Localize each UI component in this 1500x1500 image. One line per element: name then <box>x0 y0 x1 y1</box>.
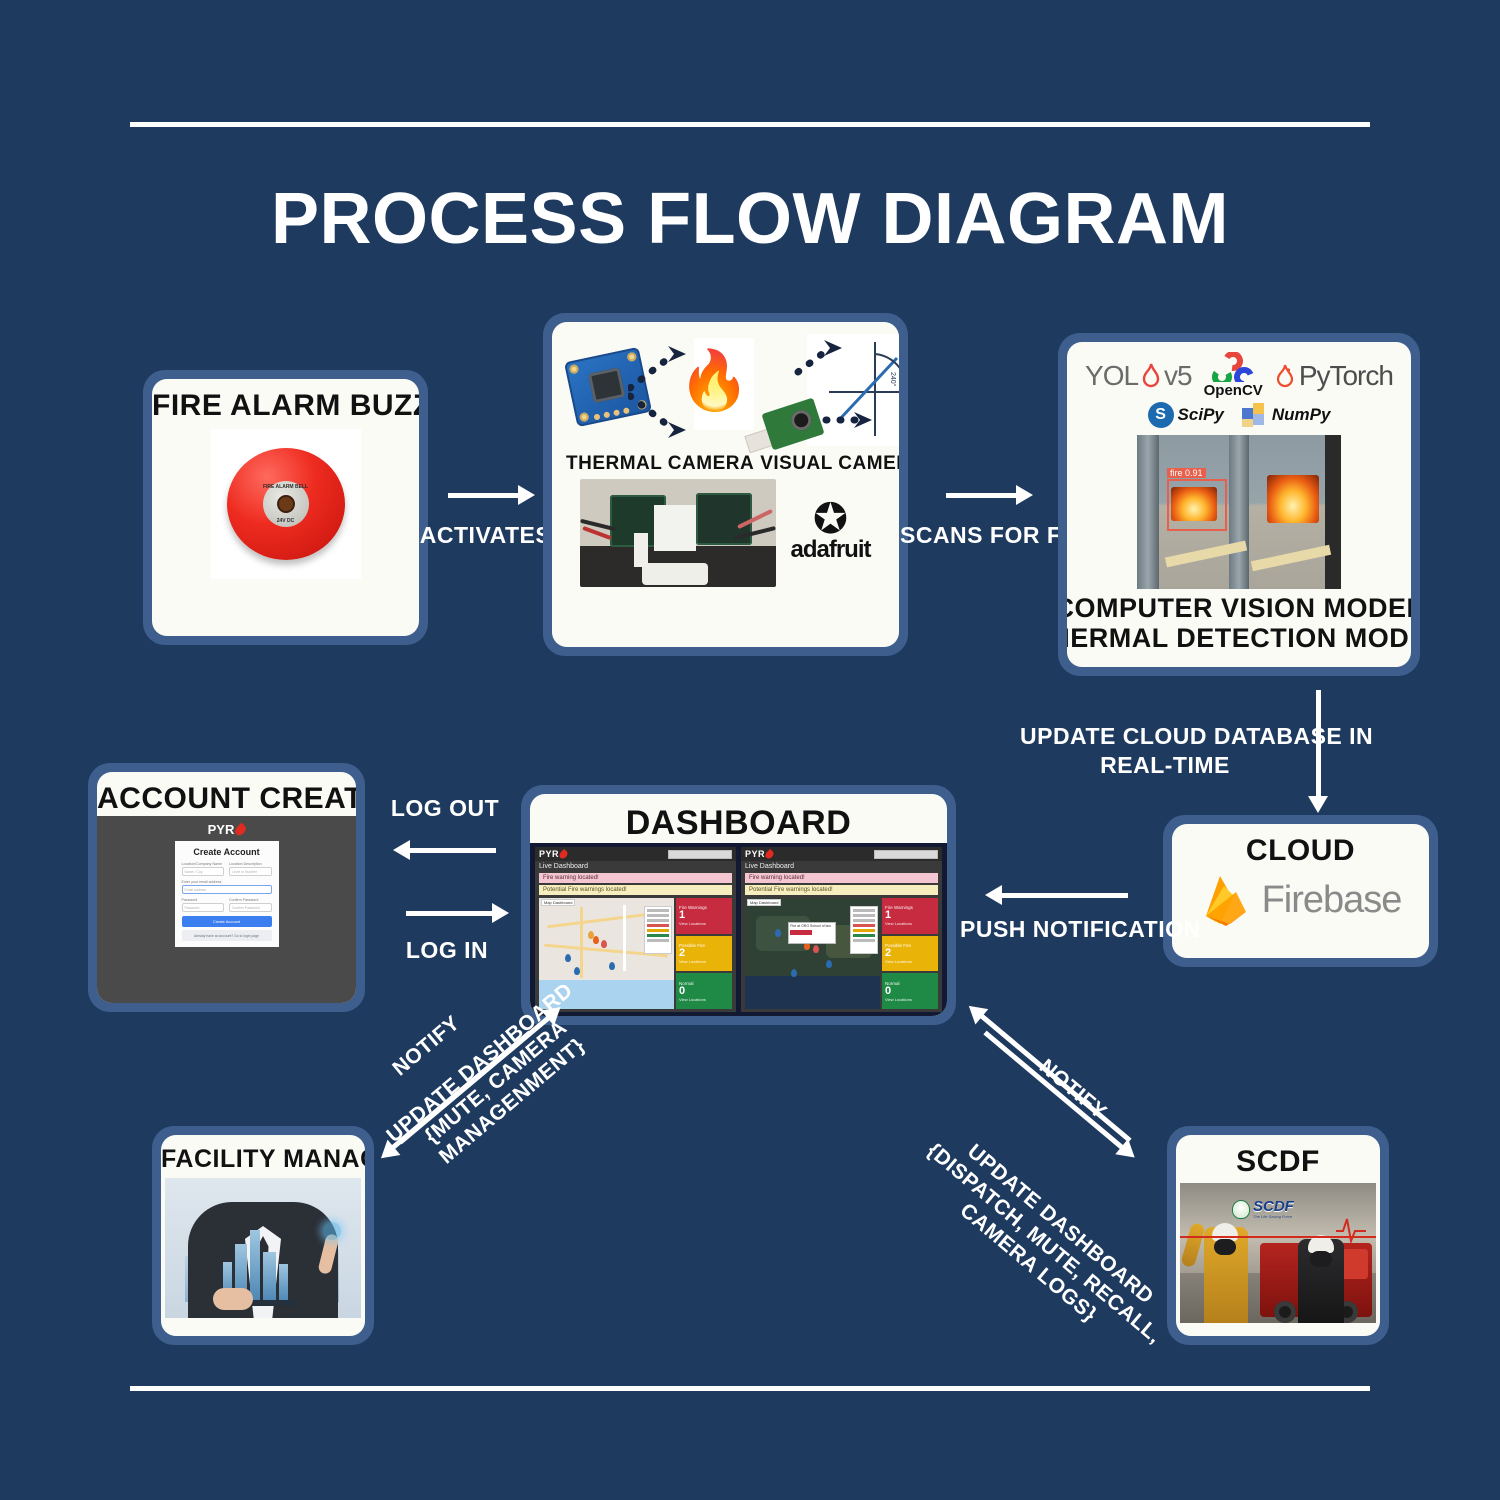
arrow-push-notification <box>1000 893 1128 898</box>
arrow-scans-for-fire <box>946 493 1018 498</box>
stat-card-normal[interactable]: Normal 0 View Locations <box>882 973 938 1009</box>
yolo-flame-icon <box>1142 363 1160 389</box>
yolov5-logo: YOL v5 <box>1085 360 1192 392</box>
bell-label-bottom: 24V DC <box>277 518 295 524</box>
arrow-log-in <box>406 911 494 916</box>
pytorch-flame-icon <box>1275 363 1295 389</box>
numpy-logo: NumPy <box>1240 401 1331 429</box>
page-title: PROCESS FLOW DIAGRAM <box>0 178 1500 260</box>
node-scdf: SCDF S <box>1167 1126 1389 1345</box>
edge-label-log-out: LOG OUT <box>385 795 505 822</box>
models-caption: COMPUTER VISION MODEL THERMAL DETECTION … <box>1067 593 1411 653</box>
go-to-login-link[interactable]: Already have an account? Go to login pag… <box>182 930 272 941</box>
bottom-divider <box>130 1386 1370 1391</box>
adafruit-wordmark: adafruit <box>790 536 870 564</box>
fire-alarm-bell-image: FIRE ALARM BELL 24V DC <box>211 429 361 579</box>
detection-label: fire 0.91 <box>1167 468 1206 478</box>
edge-label-update-dashboard-left: UPDATE DASHBOARD {MUTE, CAMERA MANAGENME… <box>382 978 611 1187</box>
node-cameras: 🔥 THERMAL CAMERA 240° <box>543 313 908 656</box>
thermal-camera-art: 🔥 <box>566 334 754 449</box>
scipy-mark-icon: S <box>1148 402 1174 428</box>
scdf-tagline: The Life Saving Force <box>1253 1214 1294 1219</box>
dashboard-alert-secondary: Potential Fire warnings located! <box>539 885 732 895</box>
node-cloud: CLOUD Firebase <box>1163 815 1438 967</box>
node-facility-managers: FACILITY MANAGERS <box>152 1126 374 1345</box>
dashboard-alert-primary: Fire warning located! <box>745 873 938 883</box>
facility-managers-image <box>165 1178 361 1318</box>
dashboard-search-input[interactable] <box>874 850 938 859</box>
stat-card-normal[interactable]: Normal 0 View Locations <box>676 973 732 1009</box>
fire-detection-image: fire 0.91 <box>1137 435 1341 589</box>
arrow-log-out <box>408 848 496 853</box>
pytorch-logo: PyTorch <box>1275 360 1393 392</box>
visual-camera-label: VISUAL CAMERA <box>760 453 899 475</box>
create-account-form: Create Account Location/Company Name Nam… <box>175 841 279 947</box>
dashboard-map-legend <box>644 906 672 954</box>
node-fire-alarm-buzzer: FIRE ALARM BUZZER FIRE ALARM BELL 24V DC <box>143 370 428 645</box>
label-email: Enter your email address <box>182 880 272 884</box>
node-dashboard: DASHBOARD PYR Live Dashboard Fire warnin… <box>521 785 956 1025</box>
edge-label-push-notification: PUSH NOTIFICATION <box>960 916 1170 943</box>
scdf-title: SCDF <box>1176 1135 1380 1179</box>
map-popup-dispatch-button[interactable] <box>790 930 812 935</box>
dashboard-nav-label: Live Dashboard <box>741 861 942 872</box>
label-company: Location/Company Name <box>182 862 225 866</box>
scipy-logo: S SciPy <box>1148 402 1224 428</box>
visual-camera-group: 240° VISUAL <box>760 334 899 475</box>
arrow-update-dashboard-right <box>979 1013 1132 1142</box>
input-company[interactable]: Name / Coy <box>182 867 225 876</box>
ecg-line-icon <box>1336 1217 1366 1243</box>
fire-emoji-icon: 🔥 <box>678 352 750 410</box>
dashboard-nav-label: Live Dashboard <box>535 861 736 872</box>
numpy-cube-icon <box>1240 401 1268 429</box>
scdf-image: SCDF The Life Saving Force <box>1180 1183 1376 1323</box>
dashboard-map-satellite[interactable]: Map Dashboard Fire at ORG School of law <box>745 898 880 1009</box>
buzzer-title: FIRE ALARM BUZZER <box>152 379 419 423</box>
bell-icon: FIRE ALARM BELL 24V DC <box>227 448 345 560</box>
pyro-logo: PYR <box>539 849 567 859</box>
bell-label-top: FIRE ALARM BELL <box>263 484 308 490</box>
firebase-flame-icon <box>1200 872 1252 928</box>
label-description: Location Description <box>229 862 272 866</box>
dashboard-panel-satellite: PYR Live Dashboard Fire warning located!… <box>741 847 942 1012</box>
scdf-logo: SCDF The Life Saving Force <box>1232 1199 1294 1219</box>
cloud-title: CLOUD <box>1172 824 1429 868</box>
create-account-button[interactable]: Create Account <box>182 916 272 927</box>
edge-label-update-cloud: UPDATE CLOUD DATABASE IN REAL-TIME <box>1020 722 1310 780</box>
label-confirm-password: Confirm Password <box>229 898 272 902</box>
svg-text:240°: 240° <box>889 372 897 387</box>
detection-bounding-box: fire 0.91 <box>1167 479 1227 531</box>
dashboard-screenshot: PYR Live Dashboard Fire warning located!… <box>530 843 947 1016</box>
edge-label-log-in: LOG IN <box>388 937 506 964</box>
input-confirm-password[interactable]: Confirm Password <box>229 903 272 912</box>
dashboard-title: DASHBOARD <box>530 794 947 843</box>
dashboard-map-legend <box>850 906 878 954</box>
edge-label-update-dashboard-right: UPDATE DASHBOARD {DISPATCH, MUTE, RECALL… <box>906 1119 1183 1369</box>
arrow-activates <box>448 493 520 498</box>
node-account-creation: ACCOUNT CREATION PYR Create Account Loca… <box>88 763 365 1012</box>
adafruit-logo: ✪ adafruit <box>790 502 870 564</box>
edge-label-activates: ACTIVATES <box>418 522 553 549</box>
dashboard-alert-secondary: Potential Fire warnings located! <box>745 885 938 895</box>
account-screenshot: PYR Create Account Location/Company Name… <box>97 816 356 1003</box>
adafruit-star-icon: ✪ <box>813 502 848 536</box>
input-email[interactable]: Email address <box>182 885 272 894</box>
dashboard-stat-cards: Fire Warnings 1 View Locations Possible … <box>676 898 732 1009</box>
opencv-logo: OpenCV <box>1204 352 1263 399</box>
pyro-logo: PYR <box>208 822 246 837</box>
dashboard-alert-primary: Fire warning located! <box>539 873 732 883</box>
input-description[interactable]: Level or Number <box>229 867 272 876</box>
scdf-badge-icon <box>1232 1200 1250 1219</box>
node-detection-models: YOL v5 OpenCV <box>1058 333 1420 676</box>
thermal-camera-label: THERMAL CAMERA <box>566 453 754 475</box>
dashboard-search-input[interactable] <box>668 850 732 859</box>
edge-label-scans-for-fire: SCANS FOR FIRE <box>900 522 1065 549</box>
thermal-camera-group: 🔥 THERMAL CAMERA <box>566 334 754 475</box>
firebase-logo: Firebase <box>1200 872 1402 928</box>
camera-rig-photo <box>580 479 776 587</box>
firebase-wordmark: Firebase <box>1262 879 1402 922</box>
account-title: ACCOUNT CREATION <box>97 772 356 816</box>
map-popup[interactable]: Fire at ORG School of law <box>788 922 836 944</box>
stat-card-possible-fire[interactable]: Possible Fire 2 View Locations <box>676 936 732 972</box>
stat-card-fire-warnings[interactable]: Fire Warnings 1 View Locations <box>882 898 938 934</box>
page-title-text: PROCESS FLOW DIAGRAM <box>271 179 1229 259</box>
pyro-logo: PYR <box>745 849 773 859</box>
stat-card-possible-fire[interactable]: Possible Fire 2 View Locations <box>882 936 938 972</box>
scdf-wordmark: SCDF <box>1253 1199 1294 1214</box>
dashboard-stat-cards: Fire Warnings 1 View Locations Possible … <box>882 898 938 1009</box>
visual-camera-art: 240° <box>760 334 899 449</box>
top-divider <box>130 122 1370 127</box>
facility-managers-title: FACILITY MANAGERS <box>161 1135 365 1174</box>
label-password: Password <box>182 898 225 902</box>
form-title: Create Account <box>182 847 272 857</box>
input-password[interactable]: Password <box>182 903 225 912</box>
stat-card-fire-warnings[interactable]: Fire Warnings 1 View Locations <box>676 898 732 934</box>
